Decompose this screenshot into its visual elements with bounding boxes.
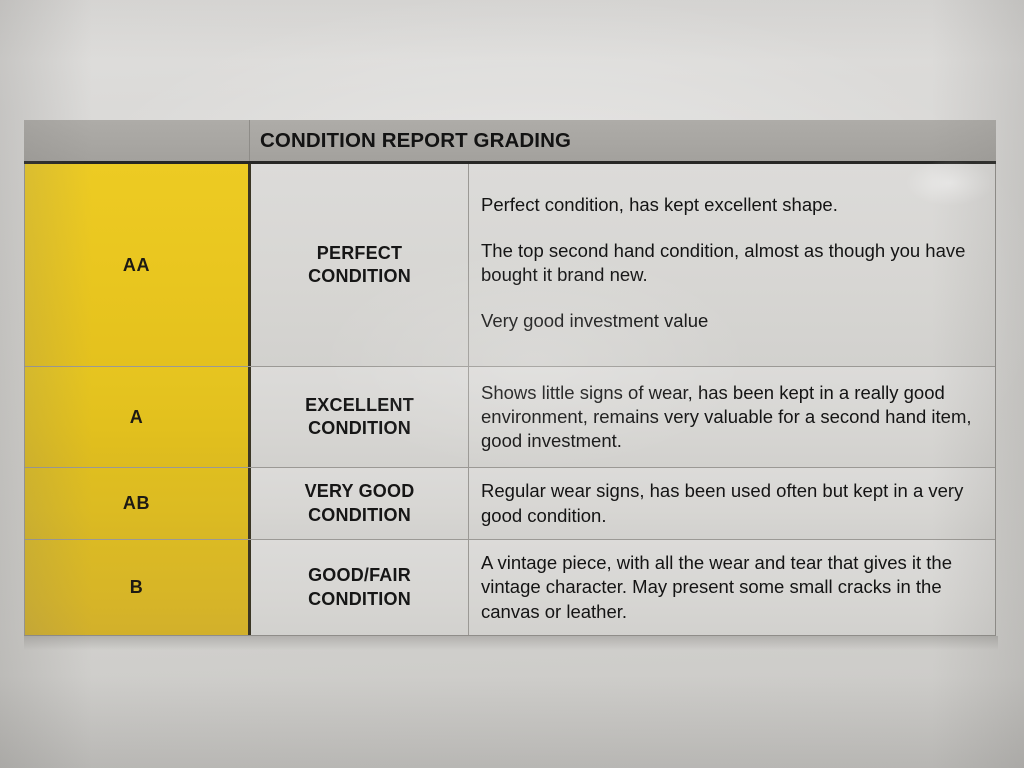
description-paragraph: Shows little signs of wear, has been kep…: [481, 381, 981, 453]
condition-name-cell-a: EXCELLENT CONDITION: [251, 367, 469, 467]
grade-swatch-cell-a: A: [25, 367, 251, 467]
table-row: AB VERY GOOD CONDITION Regular wear sign…: [25, 468, 995, 540]
condition-name-line-1: VERY GOOD: [305, 481, 415, 501]
condition-name-label: VERY GOOD CONDITION: [305, 480, 415, 526]
description-paragraph: Very good investment value: [481, 309, 981, 333]
condition-name-line-1: GOOD/FAIR: [308, 565, 411, 585]
table-header-row: CONDITION REPORT GRADING: [24, 120, 996, 164]
grade-swatch-cell-b: B: [25, 540, 251, 635]
grade-label: AB: [123, 493, 150, 514]
description-paragraph: Perfect condition, has kept excellent sh…: [481, 193, 981, 217]
grade-label: A: [130, 407, 144, 428]
description-paragraph: Regular wear signs, has been used often …: [481, 479, 981, 527]
condition-name-line-2: CONDITION: [308, 266, 411, 286]
description-cell-aa: Perfect condition, has kept excellent sh…: [469, 164, 995, 366]
condition-name-line-1: EXCELLENT: [305, 395, 414, 415]
description-paragraph: A vintage piece, with all the wear and t…: [481, 551, 981, 623]
grade-swatch-cell-aa: AA: [25, 164, 251, 366]
table-header-title-cell: CONDITION REPORT GRADING: [250, 120, 996, 161]
table-row: B GOOD/FAIR CONDITION A vintage piece, w…: [25, 540, 995, 635]
condition-name-cell-b: GOOD/FAIR CONDITION: [251, 540, 469, 635]
grade-label: B: [130, 577, 144, 598]
condition-report-grading-table: CONDITION REPORT GRADING AA PERFECT COND…: [24, 120, 996, 636]
condition-name-cell-ab: VERY GOOD CONDITION: [251, 468, 469, 539]
description-cell-ab: Regular wear signs, has been used often …: [469, 468, 995, 539]
grade-label: AA: [123, 255, 150, 276]
table-row: AA PERFECT CONDITION Perfect condition, …: [25, 164, 995, 367]
description-paragraph: The top second hand condition, almost as…: [481, 239, 981, 287]
description-cell-b: A vintage piece, with all the wear and t…: [469, 540, 995, 635]
condition-name-line-2: CONDITION: [308, 418, 411, 438]
table-body: AA PERFECT CONDITION Perfect condition, …: [24, 164, 996, 636]
condition-name-line-2: CONDITION: [308, 589, 411, 609]
condition-name-cell-aa: PERFECT CONDITION: [251, 164, 469, 366]
condition-name-line-1: PERFECT: [317, 243, 402, 263]
description-cell-a: Shows little signs of wear, has been kep…: [469, 367, 995, 467]
condition-name-label: EXCELLENT CONDITION: [305, 394, 414, 440]
condition-name-line-2: CONDITION: [308, 505, 411, 525]
grade-swatch-cell-ab: AB: [25, 468, 251, 539]
table-header-grade-column: [24, 120, 250, 161]
table-row: A EXCELLENT CONDITION Shows little signs…: [25, 367, 995, 468]
condition-name-label: GOOD/FAIR CONDITION: [308, 564, 411, 610]
page-title: CONDITION REPORT GRADING: [260, 129, 571, 153]
condition-name-label: PERFECT CONDITION: [308, 242, 411, 288]
